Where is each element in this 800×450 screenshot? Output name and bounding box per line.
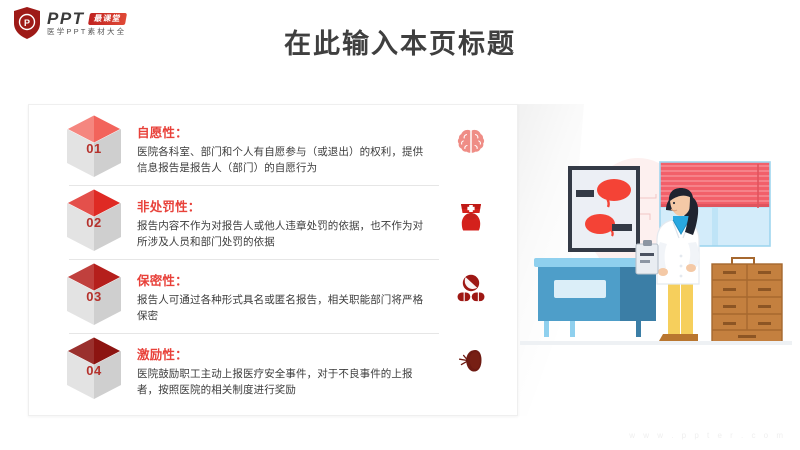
- filing-cabinet: [712, 258, 782, 342]
- brain-anatomy-poster: [568, 166, 640, 252]
- brain-icon: [443, 115, 499, 171]
- row-body: 医院鼓励职工主动上报医疗安全事件，对于不良事件的上报者，按照医院的相关制度进行奖…: [137, 366, 427, 399]
- row-divider: [69, 185, 439, 186]
- step-number-02: 02: [63, 215, 125, 230]
- step-badge-04: 04: [63, 335, 125, 403]
- row-heading: 激励性：: [137, 344, 427, 363]
- list-item[interactable]: 01 自愿性： 医院各科室、部门和个人有自愿参与（或退出）的权利，提供信息报告是…: [29, 113, 519, 185]
- row-text-03: 保密性： 报告人可通过各种形式具名或匿名报告，相关职能部门将严格保密: [137, 270, 427, 325]
- row-body: 报告人可通过各种形式具名或匿名报告，相关职能部门将严格保密: [137, 292, 427, 325]
- row-text-04: 激励性： 医院鼓励职工主动上报医疗安全事件，对于不良事件的上报者，按照医院的相关…: [137, 344, 427, 399]
- step-number-03: 03: [63, 289, 125, 304]
- nurse-icon: [443, 189, 499, 245]
- list-item[interactable]: 02 非处罚性： 报告内容不作为对报告人或他人违章处罚的依据，也不作为对所涉及人…: [29, 187, 519, 259]
- list-item[interactable]: 03 保密性： 报告人可通过各种形式具名或匿名报告，相关职能部门将严格保密: [29, 261, 519, 333]
- row-heading: 保密性：: [137, 270, 427, 289]
- step-number-01: 01: [63, 141, 125, 156]
- row-text-02: 非处罚性： 报告内容不作为对报告人或他人违章处罚的依据，也不作为对所涉及人员和部…: [137, 196, 427, 251]
- step-badge-02: 02: [63, 187, 125, 255]
- list-item[interactable]: 04 激励性： 医院鼓励职工主动上报医疗安全事件，对于不良事件的上报者，按照医院…: [29, 335, 519, 407]
- row-divider: [69, 333, 439, 334]
- footer-watermark: w w w . p p t e r . c o m: [629, 431, 786, 440]
- pills-icon: [443, 261, 499, 317]
- page-title: 在此输入本页标题: [0, 22, 800, 61]
- row-text-01: 自愿性： 医院各科室、部门和个人有自愿参与（或退出）的权利，提供信息报告是报告人…: [137, 122, 427, 177]
- row-body: 医院各科室、部门和个人有自愿参与（或退出）的权利，提供信息报告是报告人（部门）的…: [137, 144, 427, 177]
- step-badge-01: 01: [63, 113, 125, 181]
- kidney-icon: [443, 335, 499, 391]
- row-heading: 自愿性：: [137, 122, 427, 141]
- row-heading: 非处罚性：: [137, 196, 427, 215]
- doctor-in-office-illustration: [520, 152, 792, 360]
- content-card: 01 自愿性： 医院各科室、部门和个人有自愿参与（或退出）的权利，提供信息报告是…: [28, 104, 518, 416]
- row-body: 报告内容不作为对报告人或他人违章处罚的依据，也不作为对所涉及人员和部门处罚的依据: [137, 218, 427, 251]
- slide-canvas: P PPT 最课堂 医学PPT素材大全 在此输入本页标题: [0, 0, 800, 450]
- step-number-04: 04: [63, 363, 125, 378]
- row-divider: [69, 259, 439, 260]
- step-badge-03: 03: [63, 261, 125, 329]
